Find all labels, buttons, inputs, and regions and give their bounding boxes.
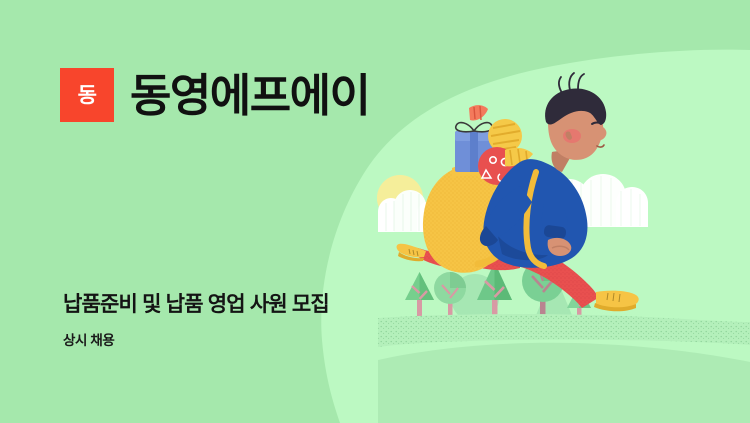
logo-glyph: 동 xyxy=(78,85,97,106)
company-name: 동영에프에이 xyxy=(130,73,369,118)
company-logo-mark: 동 xyxy=(60,68,114,122)
running-delivery-person-illustration xyxy=(0,0,750,423)
illustration-area xyxy=(0,0,750,423)
brand-row: 동 동영에프에이 xyxy=(60,68,369,122)
job-posting-title: 납품준비 및 납품 영업 사원 모집 xyxy=(63,292,329,317)
cheek-blush xyxy=(563,129,581,143)
headline-block: 납품준비 및 납품 영업 사원 모집 상시 채용 xyxy=(63,292,329,349)
job-posting-subtitle: 상시 채용 xyxy=(63,333,329,349)
recruitment-banner: 동 동영에프에이 납품준비 및 납품 영업 사원 모집 상시 채용 xyxy=(0,0,750,423)
foreground-wave xyxy=(378,343,750,423)
